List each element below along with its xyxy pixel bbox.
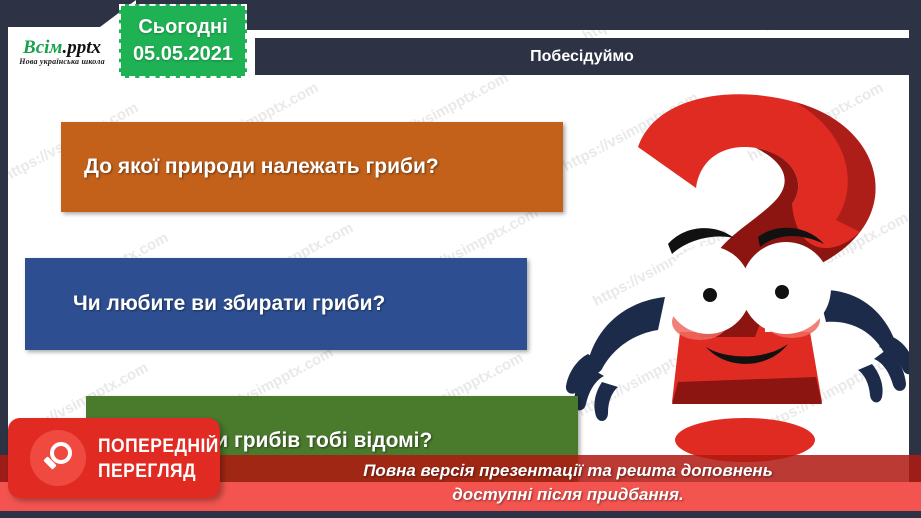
slide-canvas: https://vsimpptx.com https://vsimpptx.co… [0,0,921,518]
promo-line-2: доступні після придбання. [452,483,683,507]
logo-wordmark: Всім.pptx [23,38,101,57]
question-text: До якої природи належать гриби? [61,155,439,179]
right-frame-bar [909,0,921,518]
preview-badge-label: ПОПЕРЕДНІЙ ПЕРЕГЛЯД [98,434,207,484]
today-date-badge: Сьогодні 05.05.2021 [119,4,247,78]
left-frame-bar [0,0,8,518]
promo-line-1: Повна версія презентації та решта доповн… [363,459,773,483]
magnifier-icon [40,440,76,476]
page-title: Побесідуймо [255,38,909,75]
preview-label-line-1: ПОПЕРЕДНІЙ [98,434,207,459]
logo-brand-green: Всім [23,37,62,58]
preview-badge[interactable]: ПОПЕРЕДНІЙ ПЕРЕГЛЯД [8,418,220,498]
question-text: Чи любите ви збирати гриби? [25,292,385,316]
date-badge-value: 05.05.2021 [133,41,233,68]
brand-logo: Всім.pptx Нова українська школа [8,27,116,77]
logo-tagline: Нова українська школа [19,57,105,67]
promo-message: Повна версія презентації та решта доповн… [215,452,921,514]
magnifier-icon-circle [30,430,86,486]
question-mark-character [560,92,920,472]
header-bar: Побесідуймо [255,38,909,75]
bottom-frame-bar [0,511,921,518]
preview-label-line-2: ПЕРЕГЛЯД [98,459,207,484]
question-box-blue: Чи любите ви збирати гриби? [25,258,527,350]
date-badge-label: Сьогодні [138,14,227,41]
question-box-orange: До якої природи належать гриби? [61,122,563,212]
logo-brand-black: .pptx [62,37,101,58]
